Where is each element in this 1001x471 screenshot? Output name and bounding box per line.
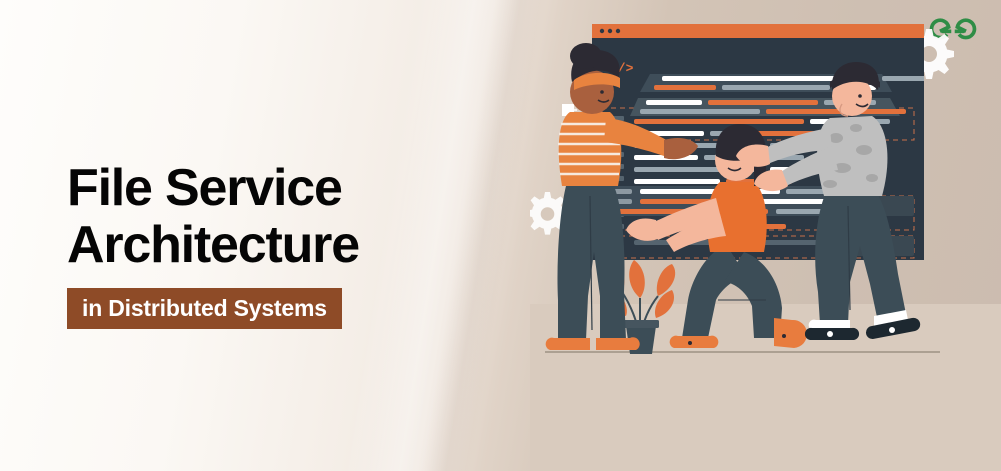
subtitle-wrapper: in Distributed Systems [67, 288, 342, 329]
page-subtitle: in Distributed Systems [67, 288, 342, 329]
headline-block: File Service Architecture in Distributed… [67, 160, 487, 329]
code-sheet-top [640, 74, 930, 92]
hero-illustration: </> [530, 0, 1001, 471]
banner: File Service Architecture in Distributed… [0, 0, 1001, 471]
page-title: File Service Architecture [67, 160, 487, 274]
